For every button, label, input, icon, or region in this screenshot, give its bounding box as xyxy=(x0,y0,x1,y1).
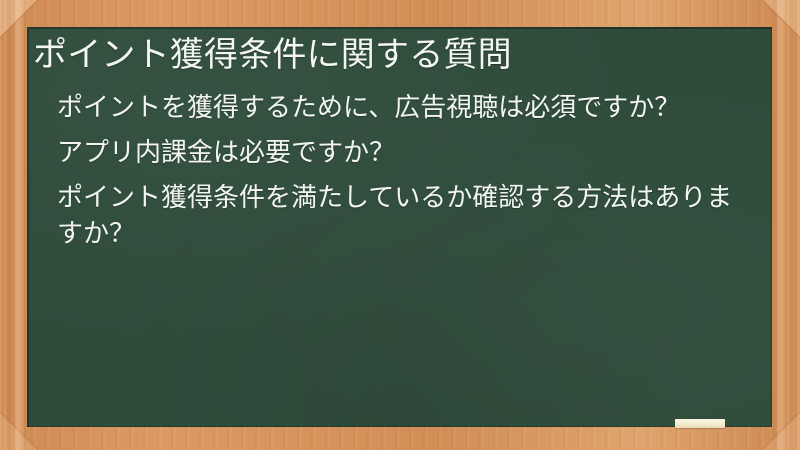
frame-rail-right xyxy=(773,0,800,450)
chalkboard-slide: ポイント獲得条件に関する質問 ポイントを獲得するために、広告視聴は必須ですか？ … xyxy=(0,0,800,450)
frame-rail-left xyxy=(0,0,27,450)
slide-content: ポイント獲得条件に関する質問 ポイントを獲得するために、広告視聴は必須ですか？ … xyxy=(27,27,772,253)
list-item: アプリ内課金は必要ですか？ xyxy=(57,136,748,172)
chalkboard-surface: ポイント獲得条件に関する質問 ポイントを獲得するために、広告視聴は必須ですか？ … xyxy=(27,27,772,427)
list-item: ポイント獲得条件を満たしているか確認する方法はありますか？ xyxy=(57,181,748,253)
page-title: ポイント獲得条件に関する質問 xyxy=(27,27,772,74)
question-list: ポイントを獲得するために、広告視聴は必須ですか？ アプリ内課金は必要ですか？ ポ… xyxy=(27,74,772,253)
list-item: ポイントを獲得するために、広告視聴は必須ですか？ xyxy=(57,91,748,127)
chalk-stick-icon xyxy=(675,419,725,428)
